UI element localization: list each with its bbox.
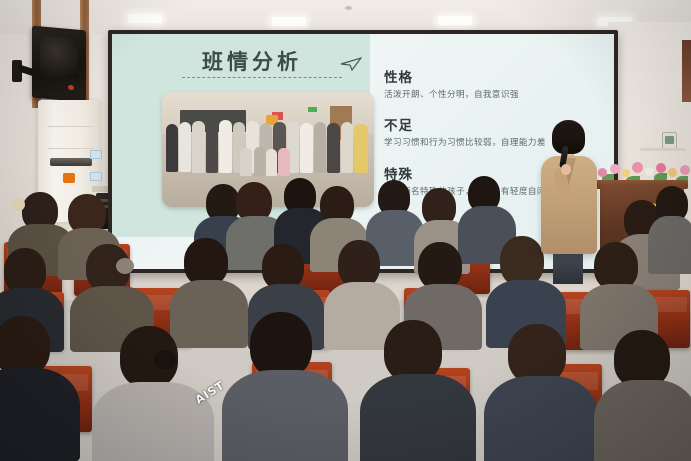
speaker-driver [40,35,78,78]
smoke-detector-icon [345,6,352,10]
ceiling-light [438,16,472,25]
slide-heading: 性格 [384,66,594,86]
ceiling-light [272,17,306,26]
wall-speaker [32,26,86,103]
ceiling-light [128,14,162,23]
slide-block: 性格 活泼开朗、个性分明，自我意识强 [384,66,594,101]
photo-scene: 班情分析 [0,0,691,461]
ac-label-tag [90,150,102,159]
paper-plane-icon [340,56,362,76]
ceiling [0,0,691,34]
presenter-hand [561,164,571,175]
wall-picture-frame [682,40,691,102]
wall-rail [640,148,686,151]
slide-body: 活泼开朗、个性分明，自我意识强 [384,89,594,101]
presenter-fringe [554,124,583,136]
speaker-led-icon [68,85,74,91]
slide-title: 班情分析 [202,46,302,76]
ac-vent [50,158,92,166]
presenter-legs [553,250,583,284]
ac-label-tag [90,172,102,181]
title-underline [182,77,342,78]
ac-sticker [63,173,75,183]
